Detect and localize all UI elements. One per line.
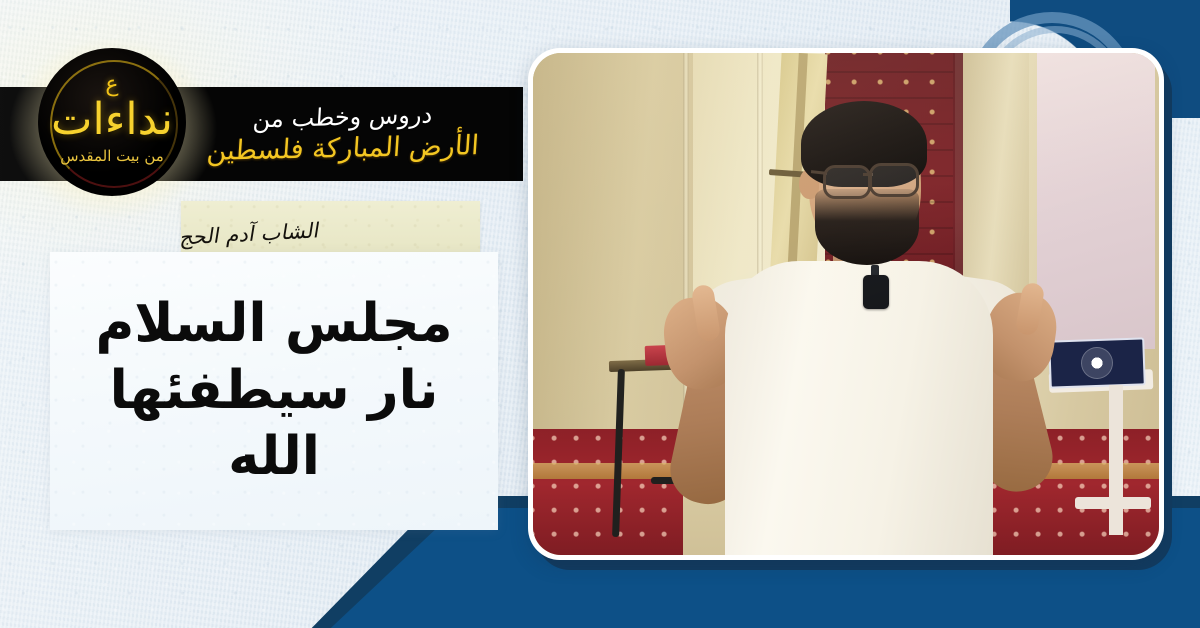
eyeglasses-lens-left [823,165,871,199]
beard [815,189,919,265]
speaker-figure [533,53,1159,555]
eyeglasses-lens-right [869,163,919,197]
speaker-photo [533,53,1159,555]
banner-line-1: دروس وخطب من [252,102,433,134]
logo-main-text: نداءات [51,98,173,142]
logo-sub-text: من بيت المقدس [60,149,164,164]
logo-ayn-glyph: ع [105,74,118,96]
channel-logo[interactable]: ع نداءات من بيت المقدس [38,48,186,196]
white-tshirt [725,261,993,555]
lecture-title: مجلس السلام نار سيطفئها الله [50,291,498,491]
lavalier-microphone [863,275,889,309]
banner-text-block: دروس وخطب من الأرض المباركة فلسطين [178,83,508,185]
title-panel: مجلس السلام نار سيطفئها الله [50,252,498,530]
banner-line-2: الأرض المباركة فلسطين [206,130,480,167]
photo-card[interactable] [528,48,1164,560]
speaker-name-label: الشاب آدم الحج [178,218,321,249]
banner-canvas: دروس وخطب من الأرض المباركة فلسطين ع ندا… [0,0,1200,628]
